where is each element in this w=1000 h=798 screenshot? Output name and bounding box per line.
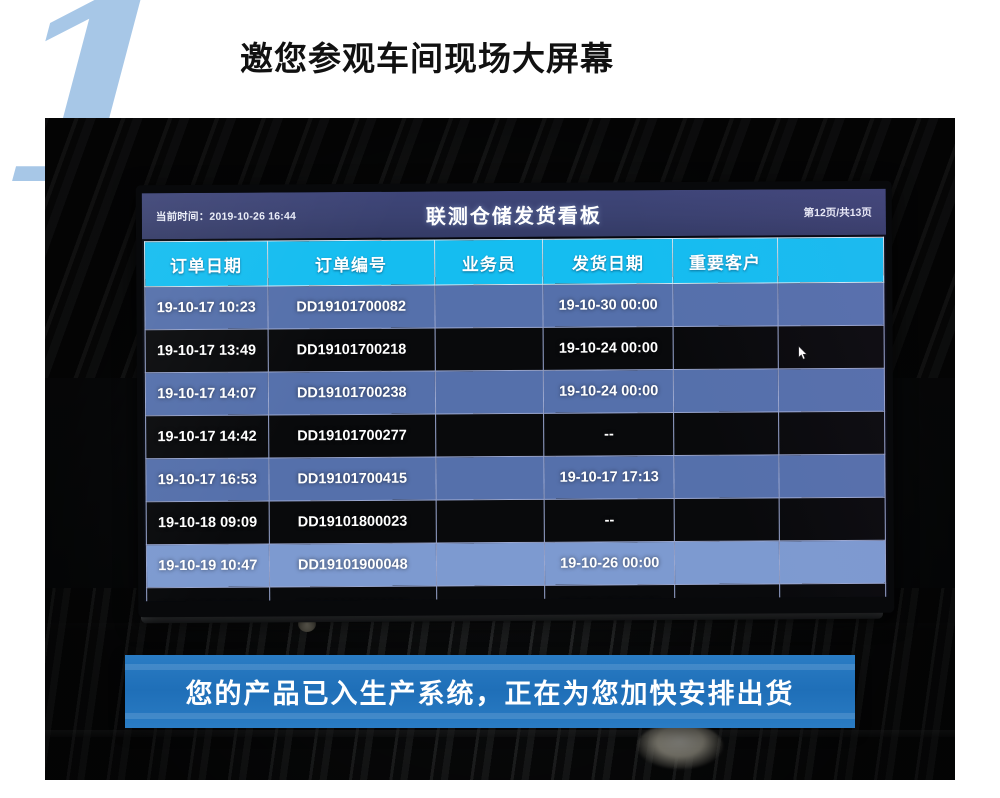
cell-salesperson [436,456,545,500]
cell-order-date: 19-10-19 10:47 [146,544,269,588]
table-row[interactable]: 19-10-17 16:53 DD19101700415 19-10-17 17… [146,454,885,502]
cell-key-customer [674,455,779,499]
dashboard-screen: 当前时间：2019-10-26 16:44 联测仓储发货看板 第12页/共13页… [142,189,888,602]
column-header-key-customer[interactable]: 重要客户 [673,238,778,284]
tv-display: 当前时间：2019-10-26 16:44 联测仓储发货看板 第12页/共13页… [136,181,895,618]
cell-extra [777,282,884,326]
cell-order-date: 19-10-18 09:09 [146,501,269,545]
table-row[interactable]: 19-10-17 14:07 DD19101700238 19-10-24 00… [145,368,884,416]
cell-key-customer [674,541,779,585]
cell-order-no: DD19101700415 [269,457,437,501]
cell-extra [779,540,886,584]
cell-extra [778,368,885,412]
cell-key-customer [673,369,778,413]
cell-ship-date: -- [544,413,674,457]
shipment-table: 订单日期 订单编号 业务员 发货日期 重要客户 19-10-17 10:23 D… [144,237,886,602]
cell-order-date: 19-10-17 16:53 [146,458,269,502]
cell-key-customer [673,326,778,370]
workshop-photo: 当前时间：2019-10-26 16:44 联测仓储发货看板 第12页/共13页… [45,118,955,780]
cell-order-date: 19-10-17 14:07 [145,372,268,416]
cell-salesperson [437,585,546,601]
cell-order-date: 19-10-17 13:49 [145,329,268,373]
cell-order-date: 19-10-21 09:59 [147,587,270,601]
table-row[interactable]: 19-10-17 13:49 DD19101700218 19-10-24 00… [145,325,884,373]
table-row[interactable]: 19-10-17 14:42 DD19101700277 -- [146,411,885,459]
cell-salesperson [435,370,544,414]
cell-ship-date: 19-10-24 00:00 [543,327,673,371]
cell-extra [779,497,886,541]
cell-order-no: DD19101900048 [269,543,437,587]
table-head: 订单日期 订单编号 业务员 发货日期 重要客户 [145,237,884,287]
cell-extra [778,454,885,498]
dashboard-header: 当前时间：2019-10-26 16:44 联测仓储发货看板 第12页/共13页 [142,189,886,240]
cell-salesperson [435,413,544,457]
cell-key-customer [673,283,778,327]
cell-order-no: DD19101700082 [267,285,435,329]
cell-extra [778,325,885,369]
ceiling-rail-lower [45,730,955,737]
cell-ship-date: 19-10-26 00:00 [545,542,675,586]
table-row[interactable]: 19-10-19 10:47 DD19101900048 19-10-26 00… [146,540,885,588]
page-title: 邀您参观车间现场大屏幕 [240,32,614,80]
column-header-order-no[interactable]: 订单编号 [267,240,435,286]
column-header-extra[interactable] [777,237,884,283]
cell-order-no: DD19101700277 [268,414,436,458]
cell-ship-date: 19-10-30 00:00 [543,284,673,328]
cell-order-no: DD19101800023 [269,500,437,544]
cell-order-no: DD19102100076 [269,586,437,601]
cell-ship-date: 19-10-24 00:00 [544,370,674,414]
cell-extra [779,583,886,601]
shipment-board: 订单日期 订单编号 业务员 发货日期 重要客户 19-10-17 10:23 D… [142,235,888,602]
cell-order-date: 19-10-17 14:42 [146,415,269,459]
cell-key-customer [674,498,779,542]
promo-banner: 您的产品已入生产系统，正在为您加快安排出货 [125,655,855,728]
table-header-row: 订单日期 订单编号 业务员 发货日期 重要客户 [145,237,884,287]
column-header-salesperson[interactable]: 业务员 [434,239,543,285]
cell-ship-date: -- [544,499,674,543]
table-body: 19-10-17 10:23 DD19101700082 19-10-30 00… [145,282,886,601]
cell-salesperson [436,499,545,543]
dashboard-title: 联测仓储发货看板 [142,197,886,231]
cell-salesperson [436,542,545,586]
cell-ship-date: 19-10-25 00:00 [545,585,675,602]
cell-key-customer [674,412,779,456]
cell-ship-date: 19-10-17 17:13 [544,456,674,500]
ceiling-lamp-icon [637,723,723,769]
promo-banner-text: 您的产品已入生产系统，正在为您加快安排出货 [186,672,795,711]
column-header-order-date[interactable]: 订单日期 [145,241,268,287]
column-header-ship-date[interactable]: 发货日期 [543,239,673,285]
cell-order-date: 19-10-17 10:23 [145,286,268,330]
cell-order-no: DD19101700218 [268,328,436,372]
cell-salesperson [435,327,544,371]
table-row[interactable]: 19-10-18 09:09 DD19101800023 -- [146,497,885,545]
cell-extra [778,411,885,455]
cell-order-no: DD19101700238 [268,371,436,415]
table-row[interactable]: 19-10-17 10:23 DD19101700082 19-10-30 00… [145,282,884,330]
cell-salesperson [435,284,544,328]
cell-key-customer [675,584,780,601]
